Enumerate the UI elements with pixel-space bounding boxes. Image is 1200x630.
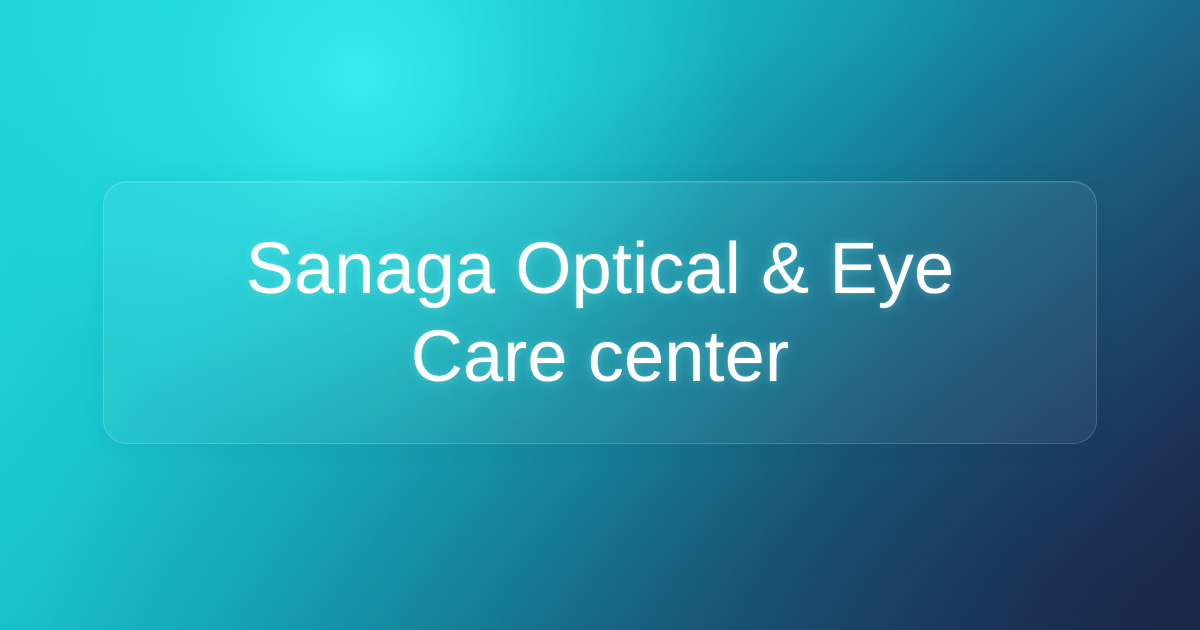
title-card: Sanaga Optical & Eye Care center: [103, 181, 1097, 444]
page-title: Sanaga Optical & Eye Care center: [104, 225, 1096, 401]
social-share-banner: Sanaga Optical & Eye Care center: [0, 0, 1200, 630]
